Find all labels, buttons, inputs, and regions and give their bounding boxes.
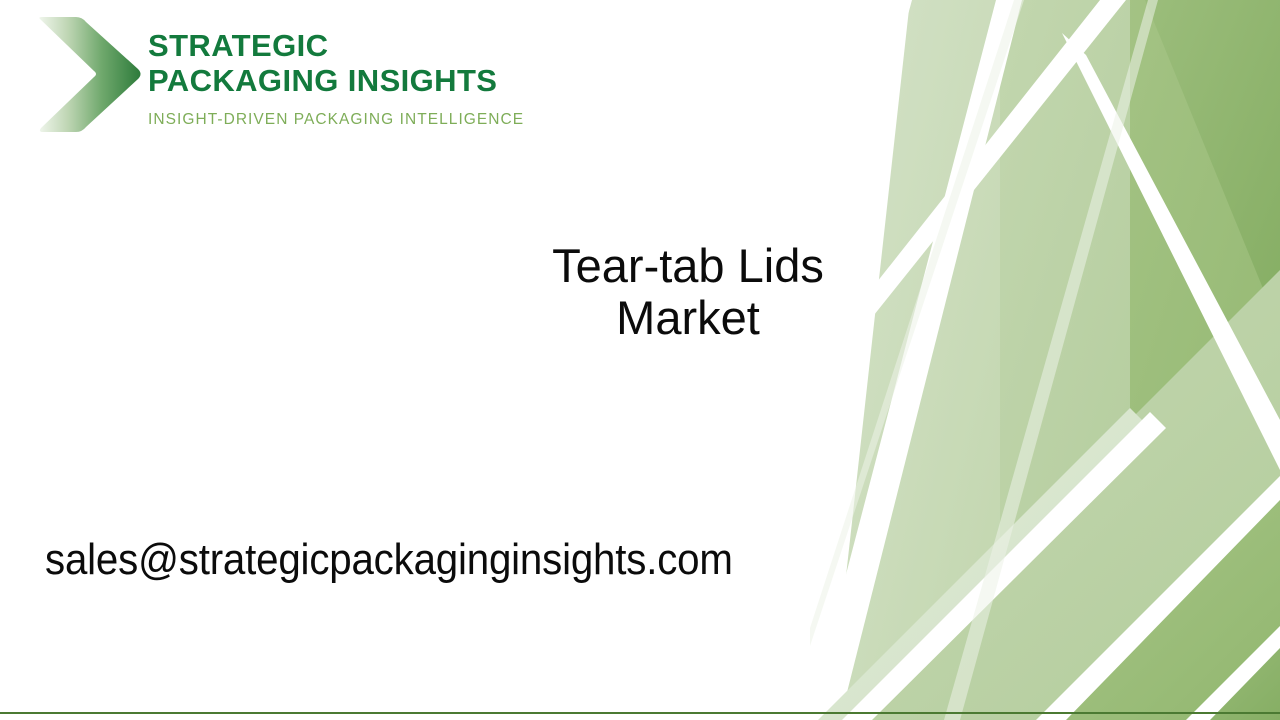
lower-white-separators [842,412,1280,720]
upper-white-separators [800,0,1156,720]
title-line-1: Tear-tab Lids [300,240,1076,292]
decorative-chevron-graphic [800,0,1280,720]
logo-tagline: INSIGHT-DRIVEN PACKAGING INTELLIGENCE [148,111,556,129]
brand-logo: STRATEGIC PACKAGING INSIGHTS INSIGHT-DRI… [36,12,556,134]
bottom-divider [0,712,1280,714]
upper-diagonal-bands [830,0,1280,720]
band-highlights [810,0,1158,720]
logo-line-packaging-insights: PACKAGING INSIGHTS [148,63,556,98]
logo-wordmark: STRATEGIC PACKAGING INSIGHTS INSIGHT-DRI… [148,12,556,129]
slide-canvas: STRATEGIC PACKAGING INSIGHTS INSIGHT-DRI… [0,0,1280,720]
apex-white-chevron [800,0,1280,470]
chevron-arrow-mark-icon [36,15,144,133]
logo-line-strategic: STRATEGIC [148,28,556,63]
contact-email[interactable]: sales@strategicpackaginginsights.com [45,530,733,590]
title-line-2: Market [300,292,1076,344]
page-title: Tear-tab Lids Market [300,240,1076,344]
